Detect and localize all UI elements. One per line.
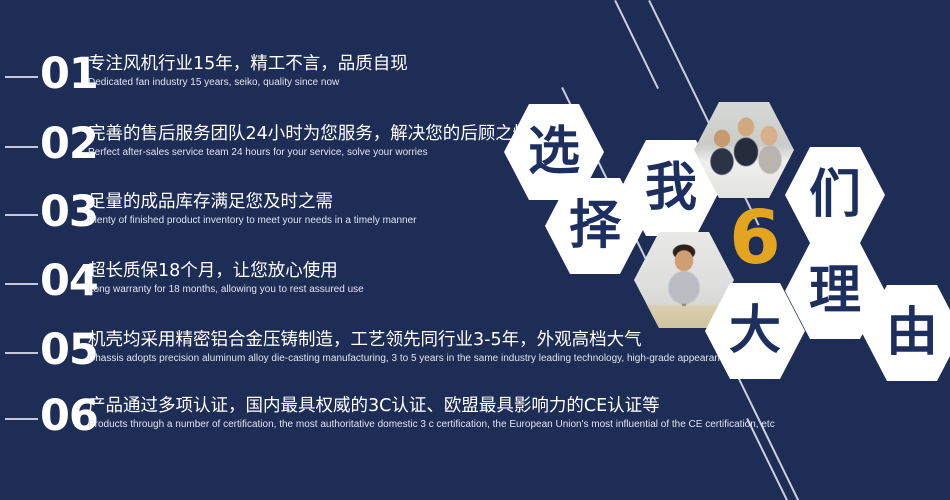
reason-item: 02 完善的售后服务团队24小时为您服务，解决您的后顾之忧 Perfect af… (0, 122, 730, 178)
promo-banner: 01 专注风机行业15年，精工不言，品质自现 Dedicated fan ind… (0, 0, 950, 500)
reason-item: 06 产品通过多项认证，国内最具权威的3C认证、欧盟最具影响力的CE认证等 Pr… (0, 394, 730, 450)
reason-subline-en: Dedicated fan industry 15 years, seiko, … (88, 76, 408, 90)
reason-headline-cn: 专注风机行业15年，精工不言，品质自现 (88, 52, 408, 76)
reason-subline-en: Long warranty for 18 months, allowing yo… (88, 283, 364, 297)
reason-headline-cn: 完善的售后服务团队24小时为您服务，解决您的后顾之忧 (88, 122, 530, 146)
hex-label-you: 由 (886, 307, 938, 359)
reason-dash (5, 283, 38, 285)
hex-label-da: 大 (729, 305, 781, 357)
reason-dash (5, 146, 38, 148)
reason-subline-en: Products through a number of certificati… (88, 418, 775, 432)
reason-headline-cn: 超长质保18个月，让您放心使用 (88, 259, 364, 283)
reason-headline-cn: 足量的成品库存满足您及时之需 (88, 190, 417, 214)
reason-text: 产品通过多项认证，国内最具权威的3C认证、欧盟最具影响力的CE认证等 Produ… (88, 394, 775, 432)
reason-dash (5, 418, 38, 420)
reason-text: 完善的售后服务团队24小时为您服务，解决您的后顾之忧 Perfect after… (88, 122, 530, 160)
hex-label-ze: 择 (569, 200, 621, 252)
hex-label-li: 理 (809, 265, 861, 317)
reason-item: 01 专注风机行业15年，精工不言，品质自现 Dedicated fan ind… (0, 52, 730, 108)
reason-subline-en: Plenty of finished product inventory to … (88, 214, 417, 228)
reason-item: 05 机壳均采用精密铝合金压铸制造，工艺领先同行业3-5年，外观高档大气 Cha… (0, 328, 730, 384)
reason-text: 足量的成品库存满足您及时之需 Plenty of finished produc… (88, 190, 417, 228)
reason-dash (5, 76, 38, 78)
reason-subline-en: Perfect after-sales service team 24 hour… (88, 146, 530, 160)
reason-headline-cn: 机壳均采用精密铝合金压铸制造，工艺领先同行业3-5年，外观高档大气 (88, 328, 786, 352)
hex-label-men: 们 (809, 169, 861, 221)
reason-subline-en: Chassis adopts precision aluminum alloy … (88, 352, 786, 366)
reason-headline-cn: 产品通过多项认证，国内最具权威的3C认证、欧盟最具影响力的CE认证等 (88, 394, 775, 418)
reason-dash (5, 214, 38, 216)
reason-text: 专注风机行业15年，精工不言，品质自现 Dedicated fan indust… (88, 52, 408, 90)
hex-label-wo: 我 (645, 162, 697, 214)
reason-dash (5, 352, 38, 354)
reason-text: 超长质保18个月，让您放心使用 Long warranty for 18 mon… (88, 259, 364, 297)
hex-label-six: 6 (729, 201, 781, 275)
hex-label-xuan: 选 (528, 126, 580, 178)
reason-text: 机壳均采用精密铝合金压铸制造，工艺领先同行业3-5年，外观高档大气 Chassi… (88, 328, 786, 366)
